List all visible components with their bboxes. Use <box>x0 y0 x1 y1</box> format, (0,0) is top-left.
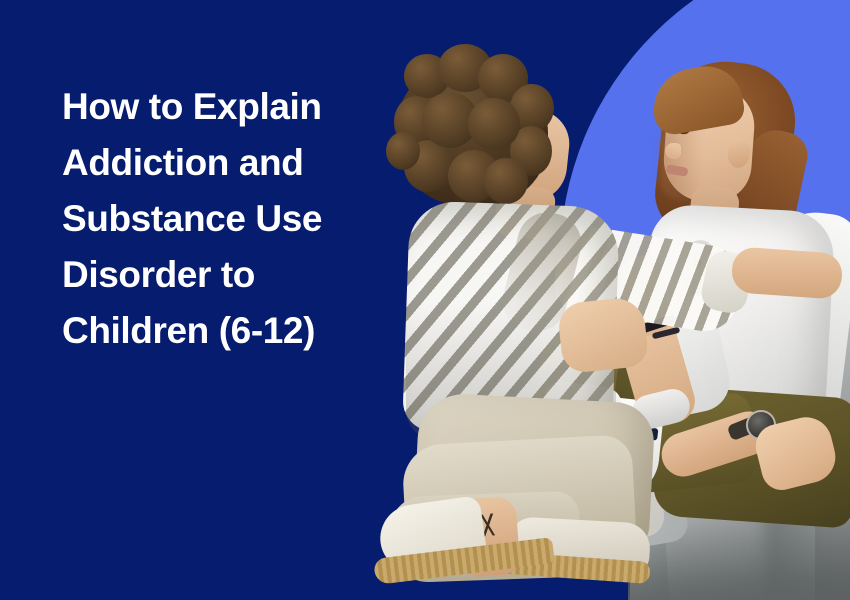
adult-forearm <box>731 246 844 300</box>
adult-figure <box>360 0 850 600</box>
banner-graphic: How to Explain Addiction and Substance U… <box>0 0 850 600</box>
adult-hair-curl <box>468 98 520 150</box>
page-title: How to Explain Addiction and Substance U… <box>62 79 402 359</box>
photo-illustration <box>360 0 850 600</box>
adult-hair-curl <box>484 158 528 204</box>
adult-hand-resting <box>557 296 650 375</box>
